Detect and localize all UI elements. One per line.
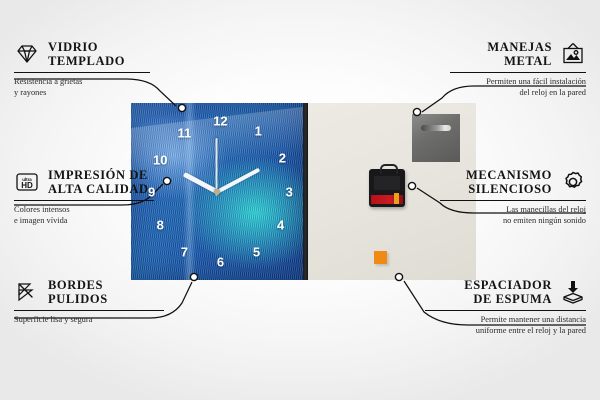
clock-second-hand — [216, 138, 218, 196]
clock-numeral-5: 5 — [253, 245, 260, 258]
feature-description: Permite mantener una distancia uniforme … — [425, 314, 586, 337]
feature-callout-impresion-alta-calidad: ultra HD IMPRESIÓN DE ALTA CALIDAD Color… — [14, 168, 154, 226]
feature-title-line2: DE ESPUMA — [473, 292, 552, 306]
clock-numeral-1: 1 — [255, 125, 262, 138]
feature-title: MECANISMO SILENCIOSO — [466, 168, 552, 197]
feature-title-line1: IMPRESIÓN DE — [48, 168, 148, 182]
clock-hour-hand — [182, 171, 218, 193]
feature-title: MANEJAS METAL — [487, 40, 552, 69]
feature-desc-line1: Superficie lisa y segura — [14, 315, 92, 324]
feature-desc-line1: Las manecillas del reloj — [506, 205, 586, 214]
feature-desc-line1: Resistencia a grietas — [14, 77, 82, 86]
clock-numeral-3: 3 — [286, 185, 293, 198]
feature-desc-line2: e imagen vívida — [14, 216, 68, 225]
diamond-icon — [14, 41, 40, 67]
feature-title: ESPACIADOR DE ESPUMA — [464, 278, 552, 307]
feature-title-line2: TEMPLADO — [48, 54, 125, 68]
clock-numeral-2: 2 — [279, 151, 286, 164]
feature-description: Permiten una fácil instalación del reloj… — [450, 76, 586, 99]
clock-numeral-10: 10 — [153, 153, 167, 166]
feature-callout-mecanismo-silencioso: MECANISMO SILENCIOSO Las manecillas del … — [440, 168, 586, 226]
feature-head: MECANISMO SILENCIOSO — [440, 168, 586, 197]
feature-divider — [14, 200, 154, 201]
feature-head: VIDRIO TEMPLADO — [14, 40, 150, 69]
mechanism-hanging-loop — [380, 164, 398, 174]
feature-divider — [14, 72, 150, 73]
clock-numeral-11: 11 — [177, 127, 191, 140]
feature-callout-manejas-metal: MANEJAS METAL Permiten una fácil instala… — [450, 40, 586, 98]
feature-callout-bordes-pulidos: BORDES PULIDOS Superficie lisa y segura — [14, 278, 164, 325]
feature-title-line1: VIDRIO — [48, 40, 98, 54]
feature-title-line2: METAL — [504, 54, 552, 68]
clock-numeral-6: 6 — [217, 256, 224, 269]
feature-description: Resistencia a grietas y rayones — [14, 76, 150, 99]
feature-head: MANEJAS METAL — [450, 40, 586, 69]
clock-numeral-12: 12 — [213, 114, 227, 127]
feature-head: ESPACIADOR DE ESPUMA — [425, 278, 586, 307]
feature-title-line1: MANEJAS — [487, 40, 552, 54]
ultra-hd-icon: ultra HD — [14, 169, 40, 195]
feature-desc-line2: no emiten ningún sonido — [503, 216, 586, 225]
feature-head: BORDES PULIDOS — [14, 278, 164, 307]
clock-numeral-7: 7 — [181, 245, 188, 258]
feature-title-line2: SILENCIOSO — [468, 182, 552, 196]
feature-divider — [450, 72, 586, 73]
clock-minute-hand — [216, 167, 260, 193]
foam-spacer-arrow-icon — [560, 279, 586, 305]
feature-title-line1: MECANISMO — [466, 168, 552, 182]
clock-front-face: 12 1 2 3 4 5 6 7 8 9 10 11 — [131, 103, 303, 280]
feature-desc-line1: Colores intensos — [14, 205, 70, 214]
feature-title-line2: PULIDOS — [48, 292, 108, 306]
feature-divider — [14, 310, 164, 311]
clock-numeral-4: 4 — [277, 219, 284, 232]
feature-title-line2: ALTA CALIDAD — [48, 182, 149, 196]
hanger-keyhole-slot — [421, 125, 451, 131]
clock-numeral-8: 8 — [157, 219, 164, 232]
feature-callout-vidrio-templado: VIDRIO TEMPLADO Resistencia a grietas y … — [14, 40, 150, 98]
feature-description: Colores intensos e imagen vívida — [14, 204, 154, 227]
foam-spacer — [374, 251, 387, 264]
polished-edges-icon — [14, 279, 40, 305]
feature-desc-line1: Permiten una fácil instalación — [486, 77, 586, 86]
mechanism-body-detail — [374, 176, 400, 190]
metal-hanger-plate — [412, 114, 460, 162]
feature-head: ultra HD IMPRESIÓN DE ALTA CALIDAD — [14, 168, 154, 197]
feature-desc-line1: Permite mantener una distancia — [481, 315, 586, 324]
picture-frame-hanging-icon — [560, 41, 586, 67]
feature-title-line1: ESPACIADOR — [464, 278, 552, 292]
clock-center-cap — [214, 189, 220, 195]
mechanism-battery-label — [371, 195, 403, 204]
infographic-canvas: 12 1 2 3 4 5 6 7 8 9 10 11 — [0, 0, 600, 400]
svg-text:HD: HD — [21, 181, 33, 190]
feature-description: Las manecillas del reloj no emiten ningú… — [440, 204, 586, 227]
feature-description: Superficie lisa y segura — [14, 314, 164, 325]
feature-title: BORDES PULIDOS — [48, 278, 108, 307]
feature-title-line1: BORDES — [48, 278, 103, 292]
feature-desc-line2: del reloj en la pared — [519, 88, 586, 97]
feature-desc-line2: y rayones — [14, 88, 46, 97]
gear-icon — [560, 169, 586, 195]
clock-numeral-9: 9 — [148, 185, 155, 198]
feature-divider — [440, 200, 586, 201]
feature-divider — [425, 310, 586, 311]
clock-mechanism — [369, 169, 405, 207]
feature-title: IMPRESIÓN DE ALTA CALIDAD — [48, 168, 149, 197]
feature-callout-espaciador-de-espuma: ESPACIADOR DE ESPUMA Permite mantener un… — [425, 278, 586, 336]
feature-desc-line2: uniforme entre el reloj y la pared — [476, 326, 586, 335]
feature-title: VIDRIO TEMPLADO — [48, 40, 125, 69]
product-photo-group: 12 1 2 3 4 5 6 7 8 9 10 11 — [131, 103, 476, 280]
